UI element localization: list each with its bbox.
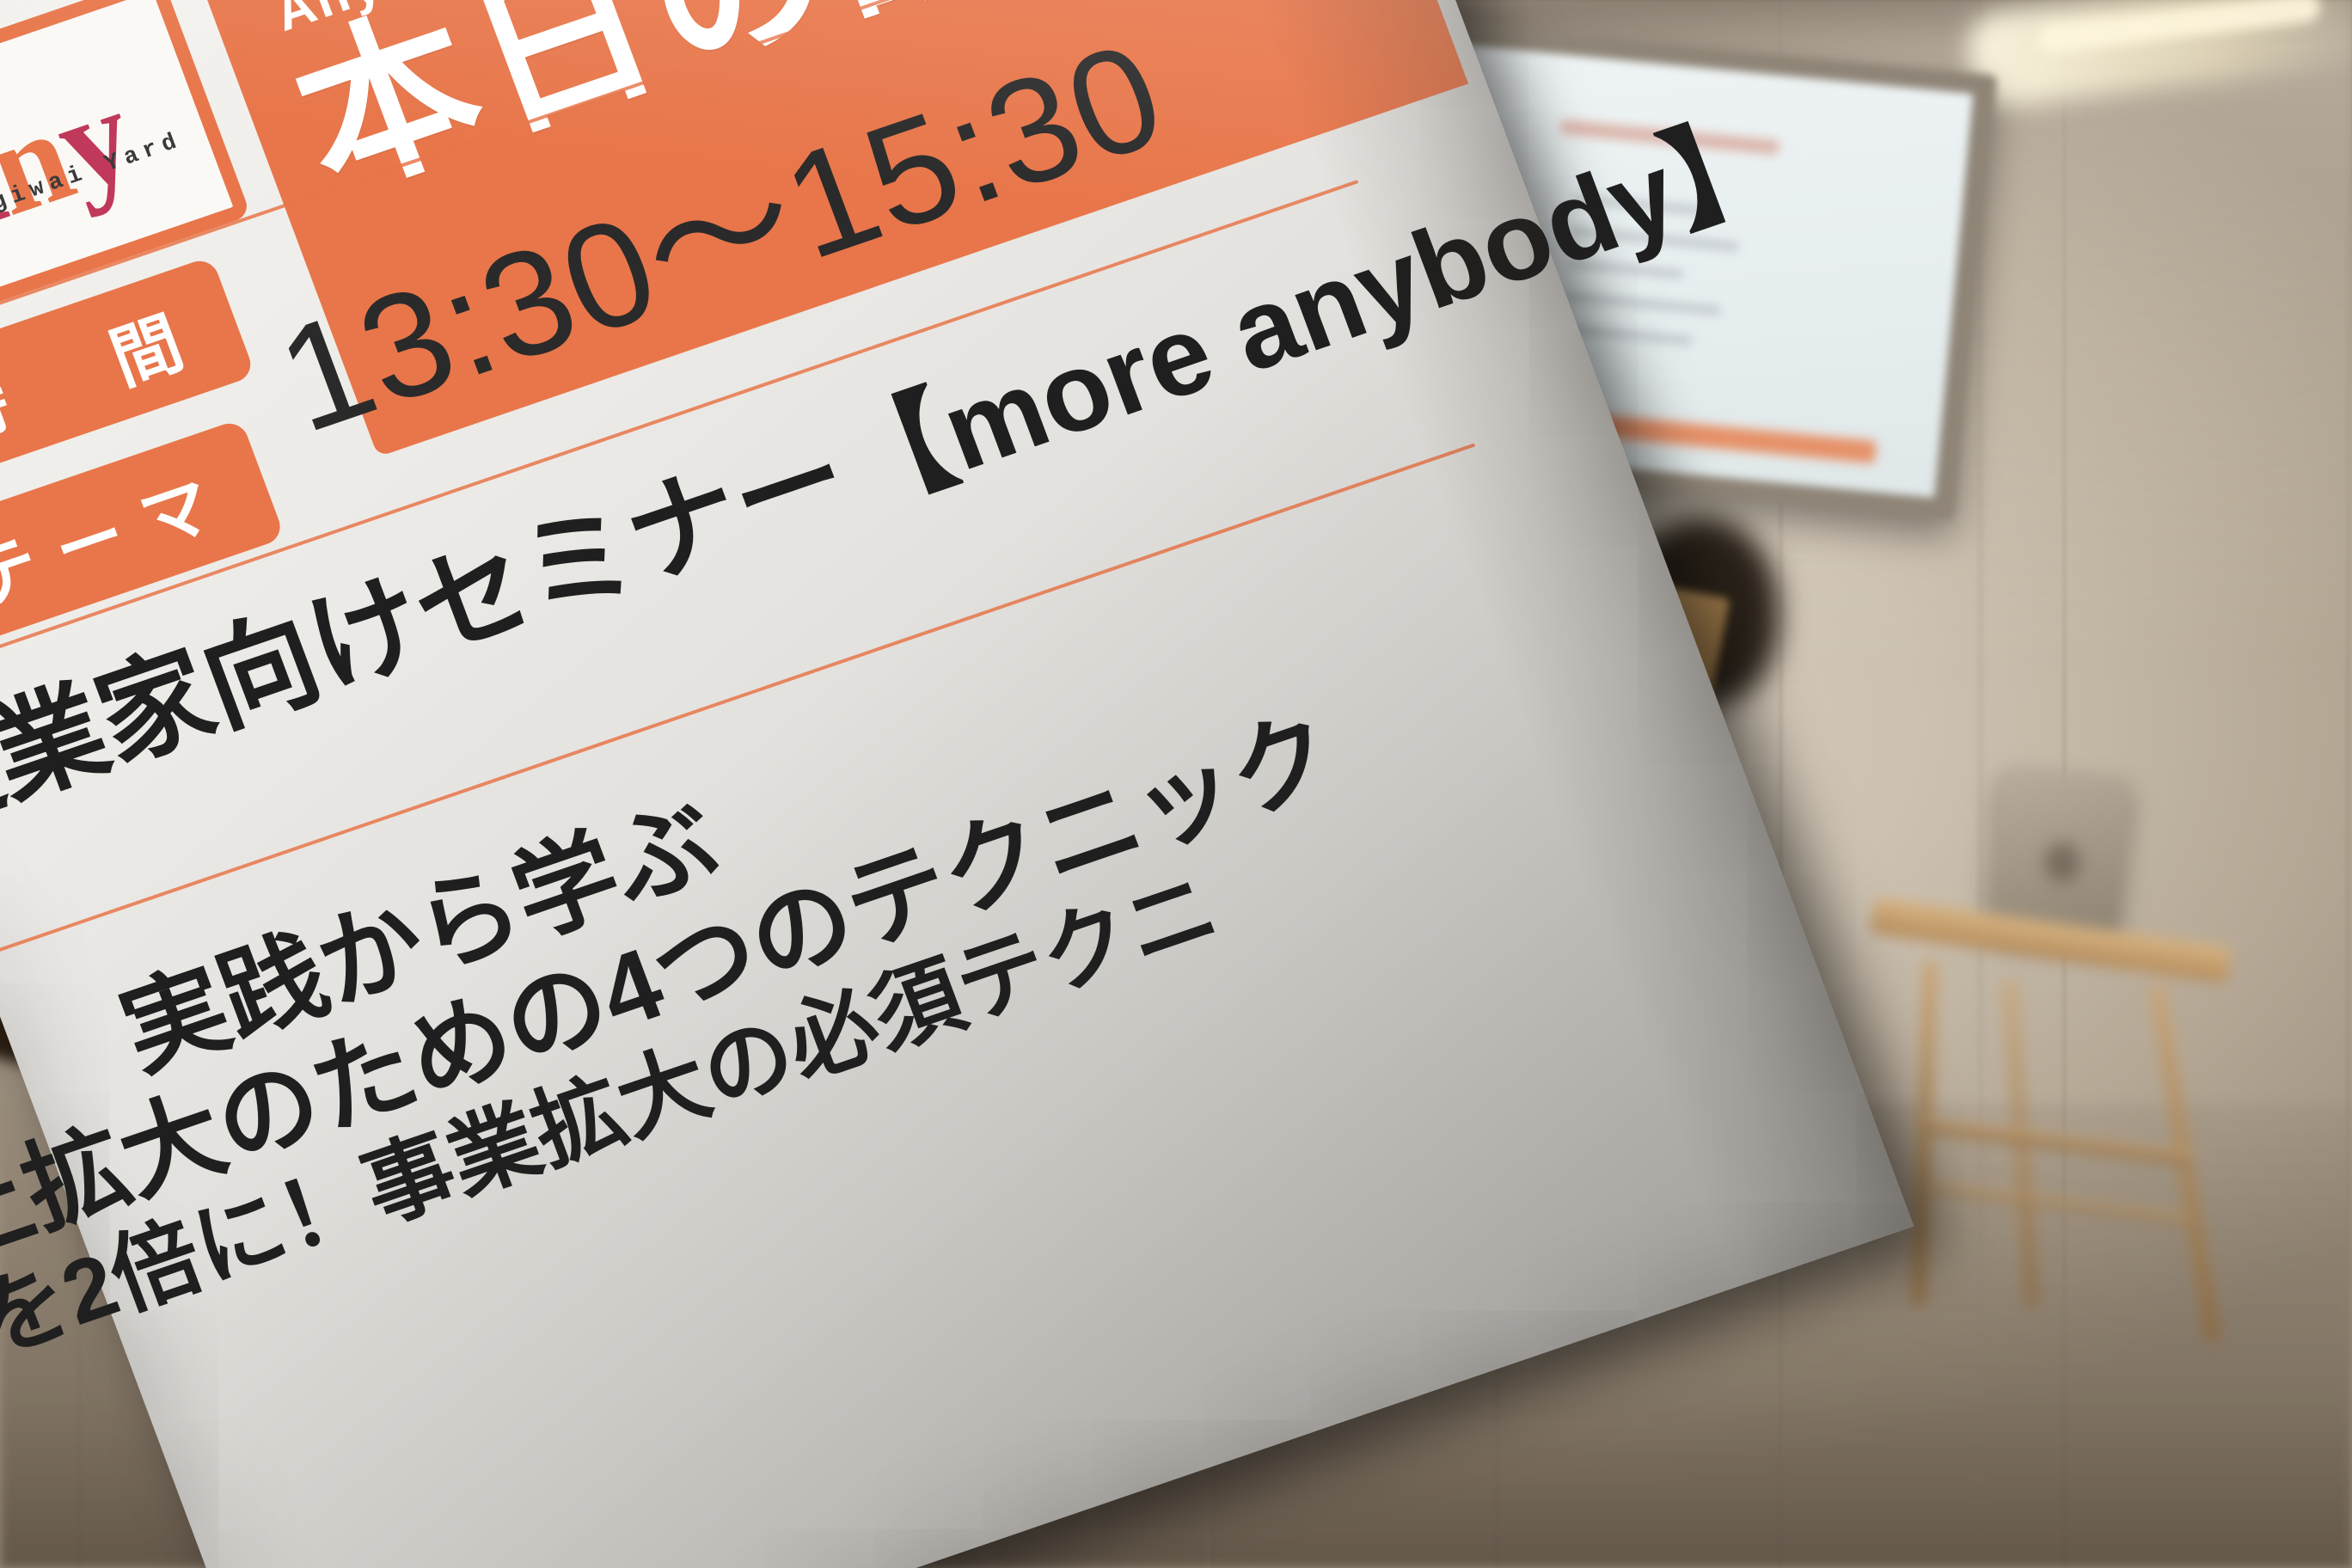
photo-scene: Any A Nigiwai Yard Any のワークショップ 本日の講座 時 … — [0, 0, 2352, 1568]
stool-rail — [1932, 1182, 2189, 1225]
wooden-stool — [1847, 869, 2312, 1418]
screen-text-line — [1565, 291, 1722, 315]
stool-rail — [1922, 1119, 2194, 1166]
